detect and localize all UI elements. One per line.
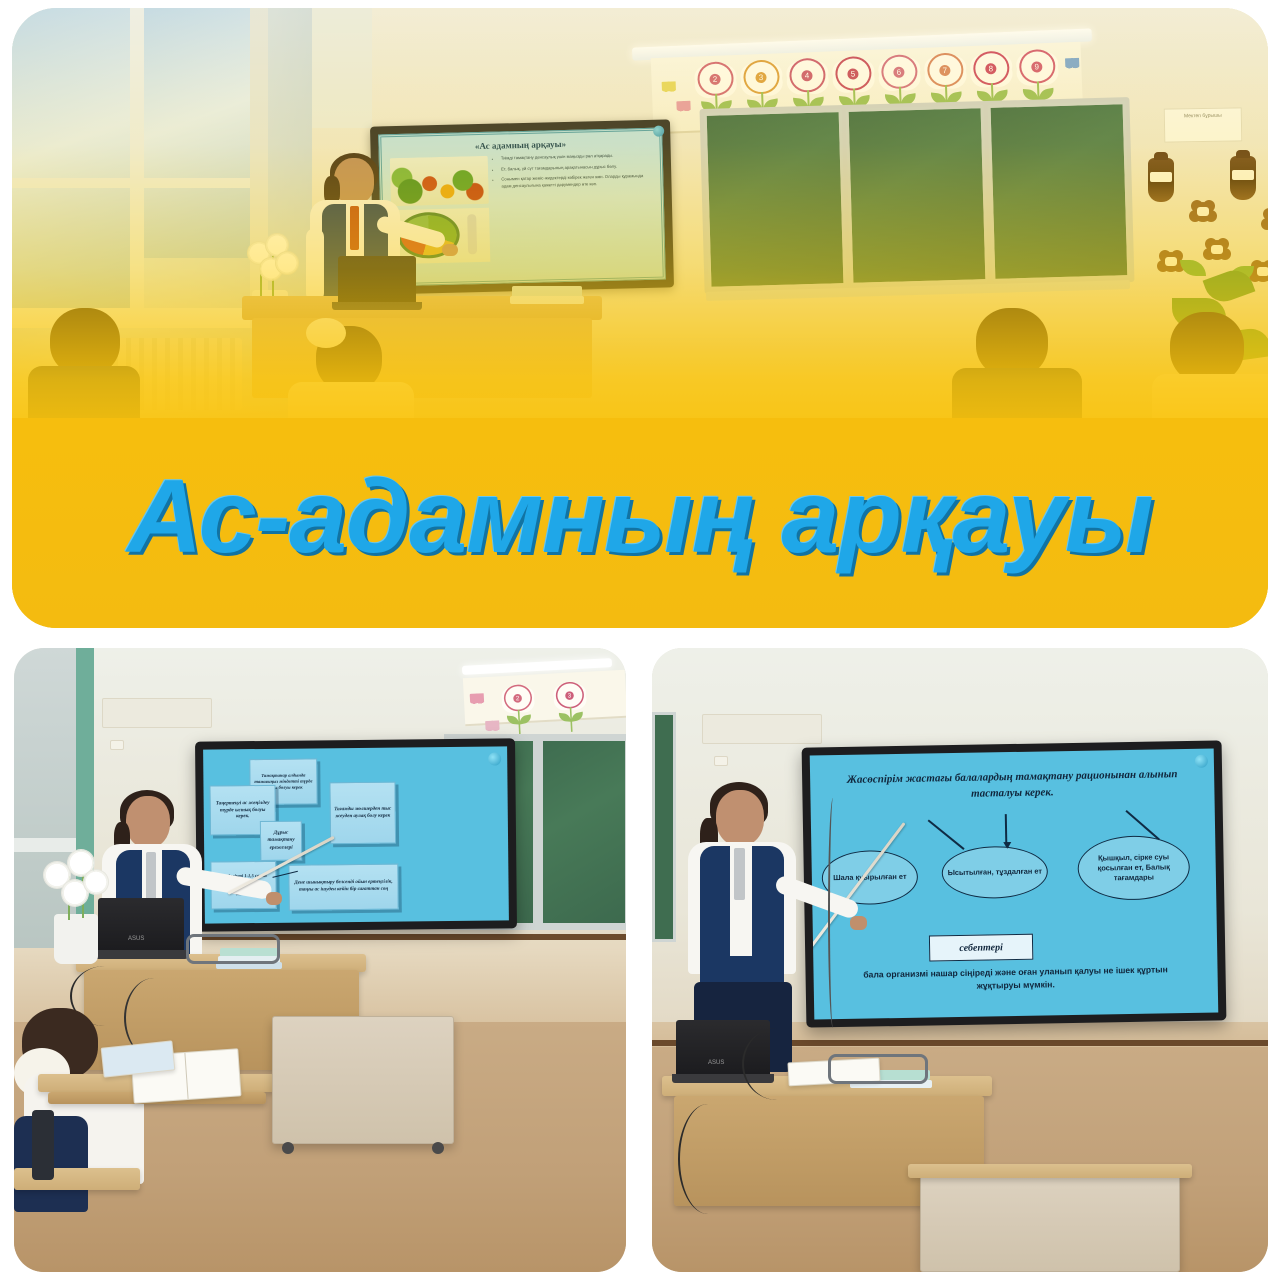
food-ellipse-2: Ысытылған, тұздалған ет [941, 845, 1048, 899]
screen-cable [828, 798, 838, 1028]
teacher-figure [682, 788, 822, 1058]
page-title: Ас-адамның арқауы [127, 465, 1152, 569]
note-box: Тағамды мөлшерден тыс жеуден аулақ болу … [329, 782, 396, 845]
sensor-icon [110, 740, 124, 750]
flower-border-strip: 2 3 [463, 670, 626, 726]
connector-arrow [928, 819, 965, 849]
bottom-right-photo: Жасөспірім жастағы балалардың тамақтану … [652, 648, 1268, 1272]
flower-decor: 3 [554, 681, 588, 734]
chair-frame [828, 1054, 928, 1084]
flower-decor: 2 [502, 684, 536, 737]
chair-frame [186, 934, 280, 964]
title-banner: Ас-адамның арқауы [12, 418, 1268, 628]
chair-back [32, 1110, 54, 1180]
interactive-whiteboard[interactable]: Тамақтанар алдында тамағыңыз міндетті тү… [195, 738, 517, 931]
cabinet-top [908, 1164, 1192, 1178]
top-photo: 2 3 4 5 6 [12, 8, 1268, 628]
chalkboard-pane [540, 738, 626, 926]
power-cable [678, 1104, 738, 1214]
butterfly-icon [470, 693, 485, 705]
chalkboard-pane [652, 712, 676, 942]
bottom-left-photo: 2 3 Тамақтанар алдында тамағыңыз міндетт… [14, 648, 626, 1272]
slide3-heading: Жасөспірім жастағы балалардың тамақтану … [842, 767, 1183, 805]
panel-bottom-left: 2 3 Тамақтанар алдында тамағыңыз міндетт… [14, 648, 626, 1272]
teacher-hand [266, 892, 282, 905]
wall-panel [702, 714, 822, 744]
laptop-brand: ASUS [708, 1060, 724, 1066]
reason-label-box: себептері [929, 934, 1033, 962]
teacher-hand [850, 916, 867, 930]
slide3-content: Жасөспірім жастағы балалардың тамақтану … [810, 748, 1219, 1019]
mobile-cabinet [272, 1016, 454, 1144]
butterfly-icon [485, 720, 500, 732]
mobile-cabinet [920, 1172, 1180, 1272]
screen-logo-icon [488, 752, 501, 765]
panel-top-classroom: 2 3 4 5 6 [12, 8, 1268, 628]
reason-text: бала организмі нашар сіңіреді және оған … [854, 963, 1178, 994]
panel-bottom-right: Жасөспірім жастағы балалардың тамақтану … [652, 648, 1268, 1272]
laptop-brand: ASUS [128, 936, 144, 942]
cabinet-caster [432, 1142, 444, 1154]
slide-foods-to-exclude: Жасөспірім жастағы балалардың тамақтану … [810, 748, 1219, 1019]
wall-panel [102, 698, 212, 728]
interactive-whiteboard[interactable]: Жасөспірім жастағы балалардың тамақтану … [802, 740, 1227, 1027]
note-box: Дене шынықтыру белсенді ойын ертеңгілік,… [288, 864, 398, 911]
sensor-icon [714, 756, 728, 766]
photo-collage: 2 3 4 5 6 [0, 0, 1280, 1280]
power-cable [742, 1028, 812, 1100]
flower-vase-left [40, 844, 110, 964]
connector-arrow [1005, 814, 1007, 844]
food-ellipse-3: Қышқыл, сірке суы қосылған ет, Балық тағ… [1077, 835, 1190, 901]
cabinet-caster [282, 1142, 294, 1154]
slide-rules-of-nutrition: Тамақтанар алдында тамағыңыз міндетті тү… [203, 746, 509, 923]
